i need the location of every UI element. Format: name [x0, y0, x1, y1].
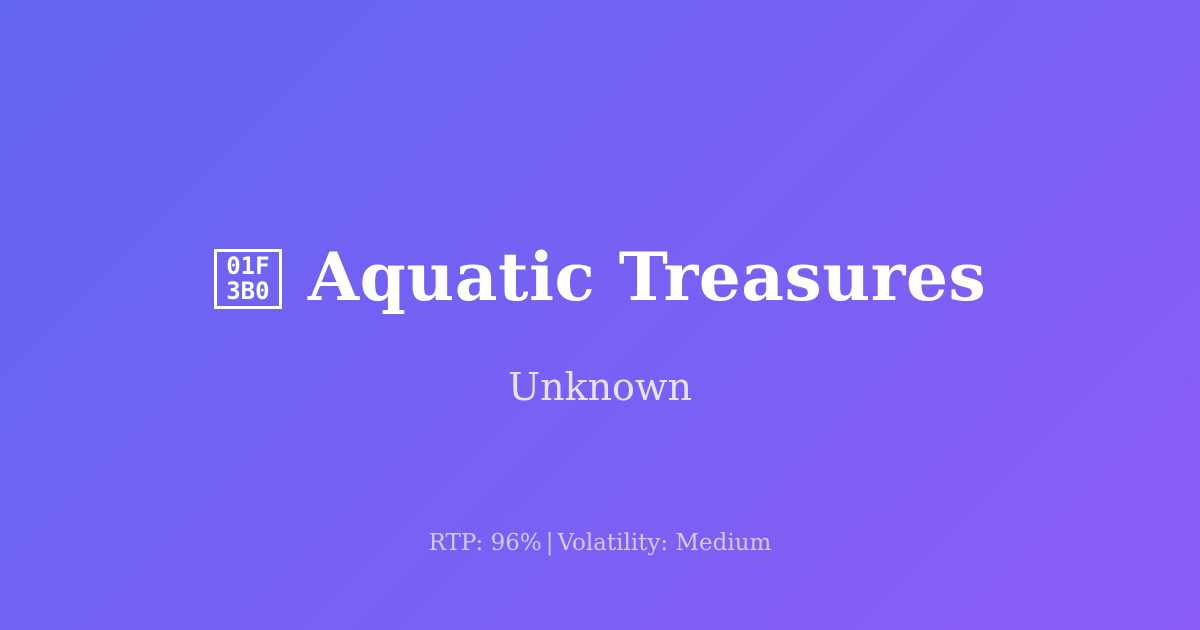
slot-machine-icon: 01F 3B0 — [214, 249, 282, 309]
page-title: Aquatic Treasures — [308, 238, 986, 316]
game-info-card: 01F 3B0 Aquatic Treasures Unknown RTP: 9… — [0, 0, 1200, 630]
provider-subtitle: Unknown — [0, 363, 1200, 411]
title-row: 01F 3B0 Aquatic Treasures — [0, 232, 1200, 322]
stats-separator: | — [542, 530, 558, 556]
rtp-stat: RTP: 96% — [429, 530, 542, 556]
tofu-codepoint-line-1: 01F — [226, 254, 269, 279]
game-stats: RTP: 96%|Volatility: Medium — [0, 528, 1200, 558]
tofu-codepoint-line-2: 3B0 — [226, 279, 269, 304]
volatility-stat: Volatility: Medium — [557, 530, 771, 556]
